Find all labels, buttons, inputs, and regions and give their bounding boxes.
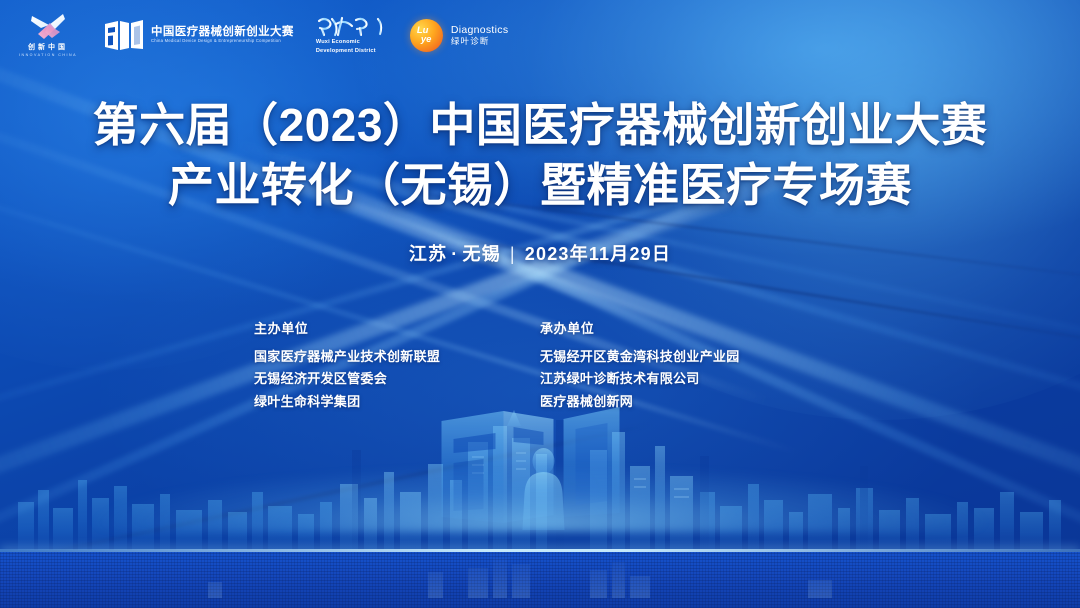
logo-label-cn: 创新中国	[28, 44, 68, 51]
coorganizer-heading: 承办单位	[540, 318, 826, 337]
logo-innovation-china: 创新中国 INNOVATION CHINA	[14, 12, 82, 58]
coorganizer-item: 医疗器械创新网	[540, 391, 826, 413]
open-door-icon	[104, 19, 144, 52]
event-date: 2023年11月29日	[525, 244, 671, 264]
host-item: 无锡经济开发区管委会	[254, 368, 540, 390]
organizers-section: 主办单位 国家医疗器械产业技术创新联盟 无锡经济开发区管委会 绿叶生命科学集团 …	[0, 318, 1080, 413]
logo-bar: 创新中国 INNOVATION CHINA 中国医疗器械创新创业大赛 China…	[0, 0, 1080, 70]
logo-text-block: 中国医疗器械创新创业大赛 China Medical Device Design…	[151, 26, 294, 44]
ground-plane	[0, 552, 1080, 608]
diagonal-light-streaks	[0, 0, 1080, 608]
location-province: 江苏	[409, 244, 447, 264]
logo-label-en-line2: Development District	[316, 48, 376, 55]
title-block: 第六届（2023）中国医疗器械创新创业大赛 产业转化（无锡）暨精准医疗专场赛 江…	[0, 96, 1080, 266]
location-dot: ·	[451, 244, 458, 265]
skyline-reflection	[0, 552, 1080, 598]
event-poster: 创新中国 INNOVATION CHINA 中国医疗器械创新创业大赛 China…	[0, 0, 1080, 608]
host-column: 主办单位 国家医疗器械产业技术创新联盟 无锡经济开发区管委会 绿叶生命科学集团	[254, 318, 540, 413]
bird-swoosh-icon	[29, 12, 67, 42]
logo-luye-diagnostics: Lu ye Diagnostics 绿叶诊断	[410, 19, 509, 52]
host-item: 绿叶生命科学集团	[254, 391, 540, 413]
location-city: 无锡	[463, 244, 501, 264]
title-line-2: 产业转化（无锡）暨精准医疗专场赛	[0, 156, 1080, 216]
luye-badge-bottom: ye	[421, 35, 432, 45]
logo-label-en: Diagnostics	[451, 25, 509, 36]
logo-label-en: INNOVATION CHINA	[19, 54, 77, 58]
host-heading: 主办单位	[254, 318, 540, 337]
luye-badge-icon: Lu ye	[410, 19, 443, 52]
logo-label-en-line1: Wuxi Economic	[316, 39, 360, 46]
logo-text-block: Diagnostics 绿叶诊断	[451, 25, 509, 46]
light-beam	[0, 422, 653, 588]
calligraphy-icon	[316, 15, 388, 37]
coorganizer-item: 无锡经开区黄金湾科技创业产业园	[540, 346, 826, 368]
title-line-1: 第六届（2023）中国医疗器械创新创业大赛	[0, 96, 1080, 156]
logo-label-en: China Medical Device Design & Entreprene…	[151, 39, 294, 44]
person-silhouette	[523, 448, 565, 530]
logo-label-cn: 中国医疗器械创新创业大赛	[151, 26, 294, 38]
logo-china-medical-device-competition: 中国医疗器械创新创业大赛 China Medical Device Design…	[104, 19, 294, 52]
coorganizer-column: 承办单位 无锡经开区黄金湾科技创业产业园 江苏绿叶诊断技术有限公司 医疗器械创新…	[540, 318, 826, 413]
subtitle-separator: |	[510, 244, 516, 265]
subtitle: 江苏·无锡|2023年11月29日	[0, 240, 1080, 266]
logo-wuxi-economic-development-district: Wuxi Economic Development District	[316, 15, 388, 55]
horizon-haze	[0, 452, 1080, 532]
logo-label-cn: 绿叶诊断	[451, 37, 509, 46]
coorganizer-item: 江苏绿叶诊断技术有限公司	[540, 368, 826, 390]
open-door-watermark	[438, 405, 643, 530]
horizon-line	[0, 549, 1080, 552]
host-item: 国家医疗器械产业技术创新联盟	[254, 346, 540, 368]
